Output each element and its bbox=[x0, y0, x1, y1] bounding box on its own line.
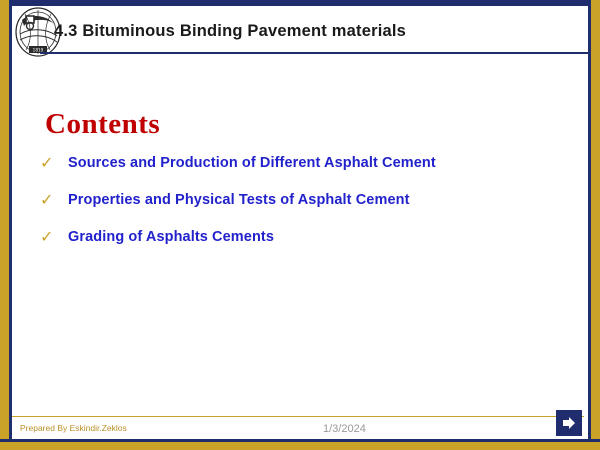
footer-date: 1/3/2024 bbox=[323, 423, 366, 435]
slide-header: 1819 4.3 Bituminous Binding Pavement mat… bbox=[12, 6, 588, 58]
border-left-gold bbox=[0, 0, 9, 450]
border-bottom-gold bbox=[0, 442, 600, 450]
check-icon: ✓ bbox=[36, 152, 68, 174]
list-item: ✓ Sources and Production of Different As… bbox=[36, 152, 556, 176]
list-item: ✓ Grading of Asphalts Cements bbox=[36, 226, 556, 250]
list-item: ✓ Properties and Physical Tests of Aspha… bbox=[36, 189, 556, 213]
border-right-navy bbox=[588, 0, 591, 450]
border-right-gold bbox=[591, 0, 600, 450]
slide: 1819 4.3 Bituminous Binding Pavement mat… bbox=[0, 0, 600, 450]
border-bottom-navy bbox=[0, 439, 600, 442]
list-item-label: Sources and Production of Different Asph… bbox=[68, 152, 436, 174]
next-arrow-icon[interactable] bbox=[556, 410, 582, 436]
check-icon: ✓ bbox=[36, 226, 68, 248]
page-title: 4.3 Bituminous Binding Pavement material… bbox=[54, 22, 406, 41]
list-item-label: Properties and Physical Tests of Asphalt… bbox=[68, 189, 410, 211]
list-item-label: Grading of Asphalts Cements bbox=[68, 226, 274, 248]
contents-heading: Contents bbox=[45, 108, 160, 141]
contents-list: ✓ Sources and Production of Different As… bbox=[36, 152, 556, 263]
check-icon: ✓ bbox=[36, 189, 68, 211]
border-left-navy bbox=[9, 0, 12, 450]
title-underline bbox=[40, 52, 591, 54]
footer-prepared-by: Prepared By Eskindir.Zeklos bbox=[20, 423, 127, 433]
footer-divider bbox=[12, 416, 584, 418]
